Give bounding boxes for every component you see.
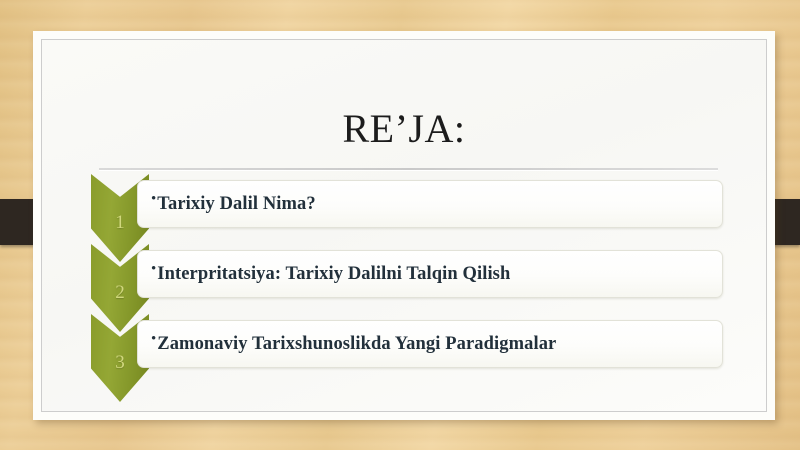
- list-item: • Zamonaviy Tarixshunoslikda Yangi Parad…: [42, 320, 766, 368]
- plan-list: 1 2 3 • Tarixiy Dalil Nima? • Interprita…: [42, 180, 766, 411]
- plan-item-text-3: Zamonaviy Tarixshunoslikda Yangi Paradig…: [157, 334, 556, 355]
- list-item: • Interpritatsiya: Tarixiy Dalilni Talqi…: [42, 250, 766, 298]
- title-divider: [99, 168, 718, 171]
- plan-item-text-2: Interpritatsiya: Tarixiy Dalilni Talqin …: [157, 264, 510, 285]
- bullet-icon: •: [151, 332, 156, 347]
- plan-card-3[interactable]: • Zamonaviy Tarixshunoslikda Yangi Parad…: [137, 320, 723, 368]
- plan-card-2[interactable]: • Interpritatsiya: Tarixiy Dalilni Talqi…: [137, 250, 723, 298]
- plan-item-text-1: Tarixiy Dalil Nima?: [157, 194, 315, 215]
- list-item: • Tarixiy Dalil Nima?: [42, 180, 766, 228]
- slide-frame: RE’JA: 1 2 3 • Tarixiy Dalil Nima? •: [33, 31, 775, 420]
- bullet-icon: •: [151, 262, 156, 277]
- slide-inner-border: RE’JA: 1 2 3 • Tarixiy Dalil Nima? •: [41, 39, 767, 412]
- bullet-icon: •: [151, 192, 156, 207]
- plan-card-1[interactable]: • Tarixiy Dalil Nima?: [137, 180, 723, 228]
- page-title: RE’JA:: [42, 109, 766, 149]
